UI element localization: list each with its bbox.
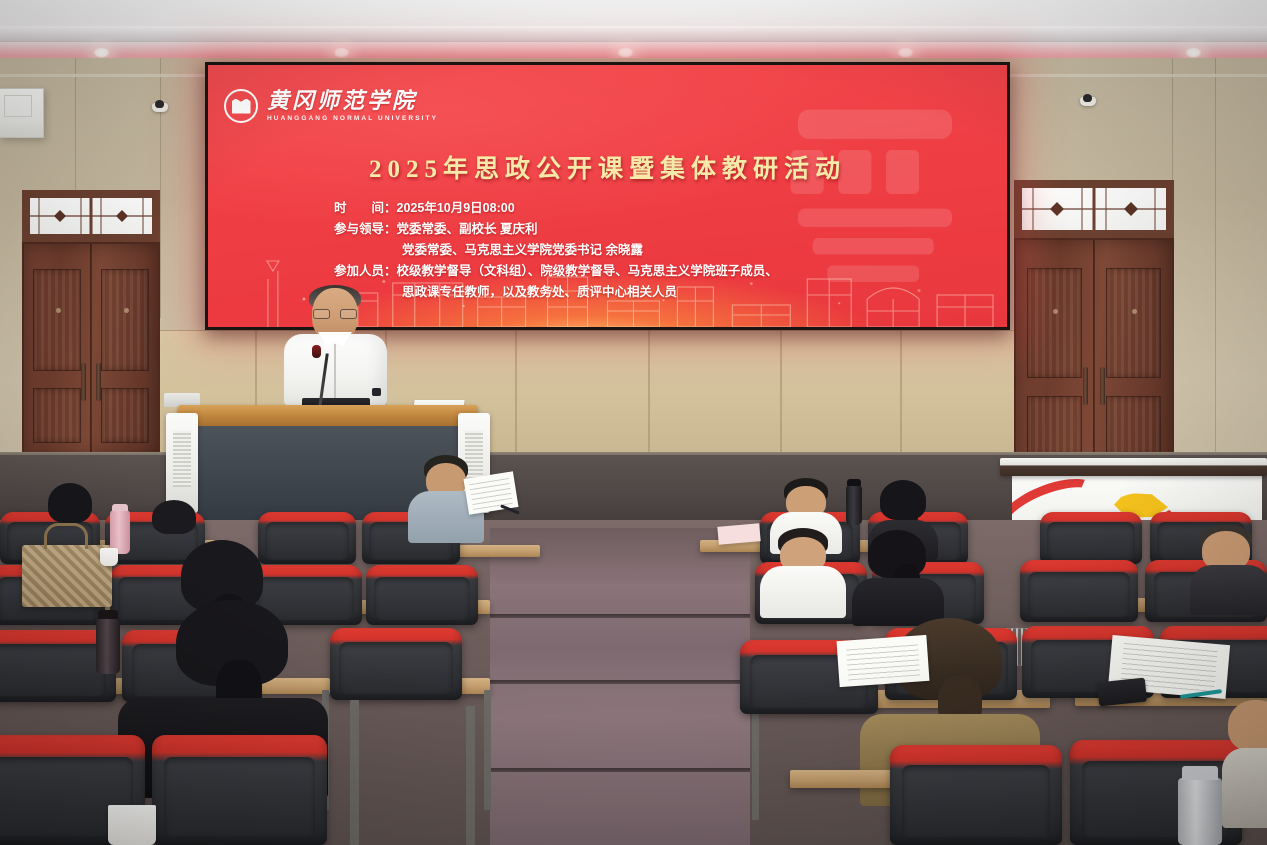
aisle-step-3 (490, 768, 750, 772)
detail-value-leader-1: 党委常委、副校长 夏庆利 (397, 222, 538, 236)
detail-label-leaders: 参与领导： (334, 222, 397, 236)
university-name-block: 黄冈师范学院 HUANGGANG NORMAL UNIVERSITY (267, 90, 438, 122)
paper-cup-r2 (100, 548, 118, 566)
glasses-lens-right (340, 309, 357, 319)
door-leaves-left[interactable] (22, 242, 160, 458)
wood-seam-6 (900, 330, 902, 460)
university-name-en: HUANGGANG NORMAL UNIVERSITY (267, 115, 438, 122)
camera-lens-icon (1083, 94, 1092, 102)
security-camera-right (1080, 94, 1096, 106)
presenter-glasses-icon (313, 309, 357, 319)
microphone-icon (312, 345, 321, 358)
paper-lines (846, 641, 920, 681)
attendee-r2-farright (1190, 525, 1267, 605)
attendee-hair (48, 483, 92, 523)
ceiling-conduit-left (0, 74, 215, 77)
thermos-dark-r3 (96, 618, 120, 674)
console-desk-top (1000, 458, 1267, 476)
door-knob-left (1053, 309, 1058, 314)
thermos-cap (98, 610, 118, 619)
lectern-top-surface (178, 405, 478, 427)
presenter-wristwatch (372, 388, 381, 396)
handbag-r2 (22, 545, 112, 607)
presenter-shirt-placket (334, 344, 336, 404)
attendee-head (1228, 700, 1267, 752)
paper-lines (469, 476, 513, 509)
double-door-right[interactable] (1014, 180, 1174, 472)
thermos-r1-right (846, 485, 862, 525)
attendee-hair (152, 500, 196, 534)
ceiling-conduit-right (1010, 74, 1267, 77)
detail-value-time: 2025年10月9日08:00 (397, 201, 515, 215)
attendee-torso (760, 566, 846, 618)
lecture-hall-photo: 黄冈师范学院 HUANGGANG NORMAL UNIVERSITY 2025年… (0, 0, 1267, 845)
attendee-r2-right-white (760, 528, 846, 608)
desk-rail-r4-a (350, 700, 359, 845)
seat-r2-c4 (366, 565, 478, 625)
door-panel-upper (1106, 268, 1161, 378)
wall-air-conditioner (0, 88, 44, 138)
door-leaf-left[interactable] (24, 244, 91, 456)
door-transom-window-right (1014, 180, 1174, 238)
event-title: 2025年思政公开课暨集体教研活动 (208, 149, 1007, 185)
door-leaf-right[interactable] (91, 244, 158, 456)
desk-rail-r4-b (466, 706, 475, 845)
door-transom-window-left (22, 190, 160, 242)
seat-r1-c7 (1040, 512, 1142, 564)
door-panel-lower (1027, 396, 1082, 456)
door-panel-upper (1027, 268, 1082, 378)
downlight-1 (93, 47, 110, 58)
lectern-speaker-left (166, 413, 198, 513)
seat-r4-c3 (890, 745, 1062, 845)
wood-seam-5 (780, 330, 782, 460)
door-panel-lower (33, 388, 81, 443)
attendee-r4-right (1228, 700, 1267, 820)
presenter-person (280, 288, 390, 413)
door-handle-left[interactable] (1083, 367, 1088, 405)
speaker-grille-icon (173, 431, 191, 487)
detail-line-time: 时 间：2025年10月9日08:00 (334, 198, 974, 219)
desk-rail-r3-b (484, 690, 491, 810)
seat-r4-c2 (152, 735, 327, 845)
desk-rail-r3-c (752, 700, 759, 820)
screen-logo-block: 黄冈师范学院 HUANGGANG NORMAL UNIVERSITY (224, 89, 438, 123)
detail-label-time: 时 间： (334, 201, 397, 215)
camera-lens-icon (155, 100, 164, 108)
attendee-r2-right-dark (852, 530, 944, 616)
aisle-step-1 (490, 614, 750, 618)
paper-r1-right (717, 523, 760, 545)
university-name-cn: 黄冈师范学院 (267, 90, 438, 112)
door-panel-lower (1106, 396, 1161, 456)
wall-seam-4 (160, 58, 161, 318)
paper-cup-r4 (108, 805, 156, 845)
thermos-cap (847, 479, 861, 486)
attendee-torso (1190, 565, 1267, 615)
downlight-4 (897, 47, 914, 58)
thermos-cap (1182, 766, 1218, 780)
door-handle-right[interactable] (1100, 367, 1105, 405)
transom-grille-icon (1021, 187, 1167, 231)
attendee-torso (1222, 748, 1267, 828)
transom-grille-icon (29, 197, 153, 235)
door-panel-upper (33, 269, 81, 371)
smartphone-r3 (1097, 678, 1147, 707)
door-knob-left (56, 308, 61, 313)
wood-seam-3 (515, 330, 517, 460)
downlight-3 (617, 47, 634, 58)
ceiling-cornice (0, 26, 1267, 42)
door-handle-right[interactable] (96, 363, 101, 401)
thermos-cap (112, 504, 128, 511)
security-camera-left (152, 100, 168, 112)
glasses-lens-left (313, 309, 330, 319)
notebook-r3-right (837, 635, 930, 687)
handbag-strap (44, 523, 88, 549)
door-panel-upper (101, 269, 149, 371)
door-knob-right (124, 308, 129, 313)
door-knob-right (1132, 309, 1137, 314)
double-door-left[interactable] (22, 190, 160, 458)
aisle-step-2 (490, 680, 750, 684)
door-handle-left[interactable] (81, 363, 86, 401)
door-leaf-right[interactable] (1094, 240, 1172, 470)
thermos-r4-right (1178, 778, 1222, 845)
detail-line-leader-1: 参与领导：党委常委、副校长 夏庆利 (334, 219, 974, 240)
door-leaf-left[interactable] (1016, 240, 1094, 470)
downlight-5 (1185, 47, 1202, 58)
attendee-r1-mid (148, 500, 200, 536)
wood-seam-4 (648, 330, 650, 460)
downlight-2 (333, 47, 350, 58)
seat-r3-c3 (330, 628, 462, 700)
university-crest-icon (224, 89, 258, 123)
wall-seam-3 (1215, 58, 1216, 458)
door-panel-lower (101, 388, 149, 443)
seat-r2-c7 (1020, 560, 1138, 622)
door-leaves-right[interactable] (1014, 238, 1174, 472)
center-aisle-steps (490, 528, 750, 845)
